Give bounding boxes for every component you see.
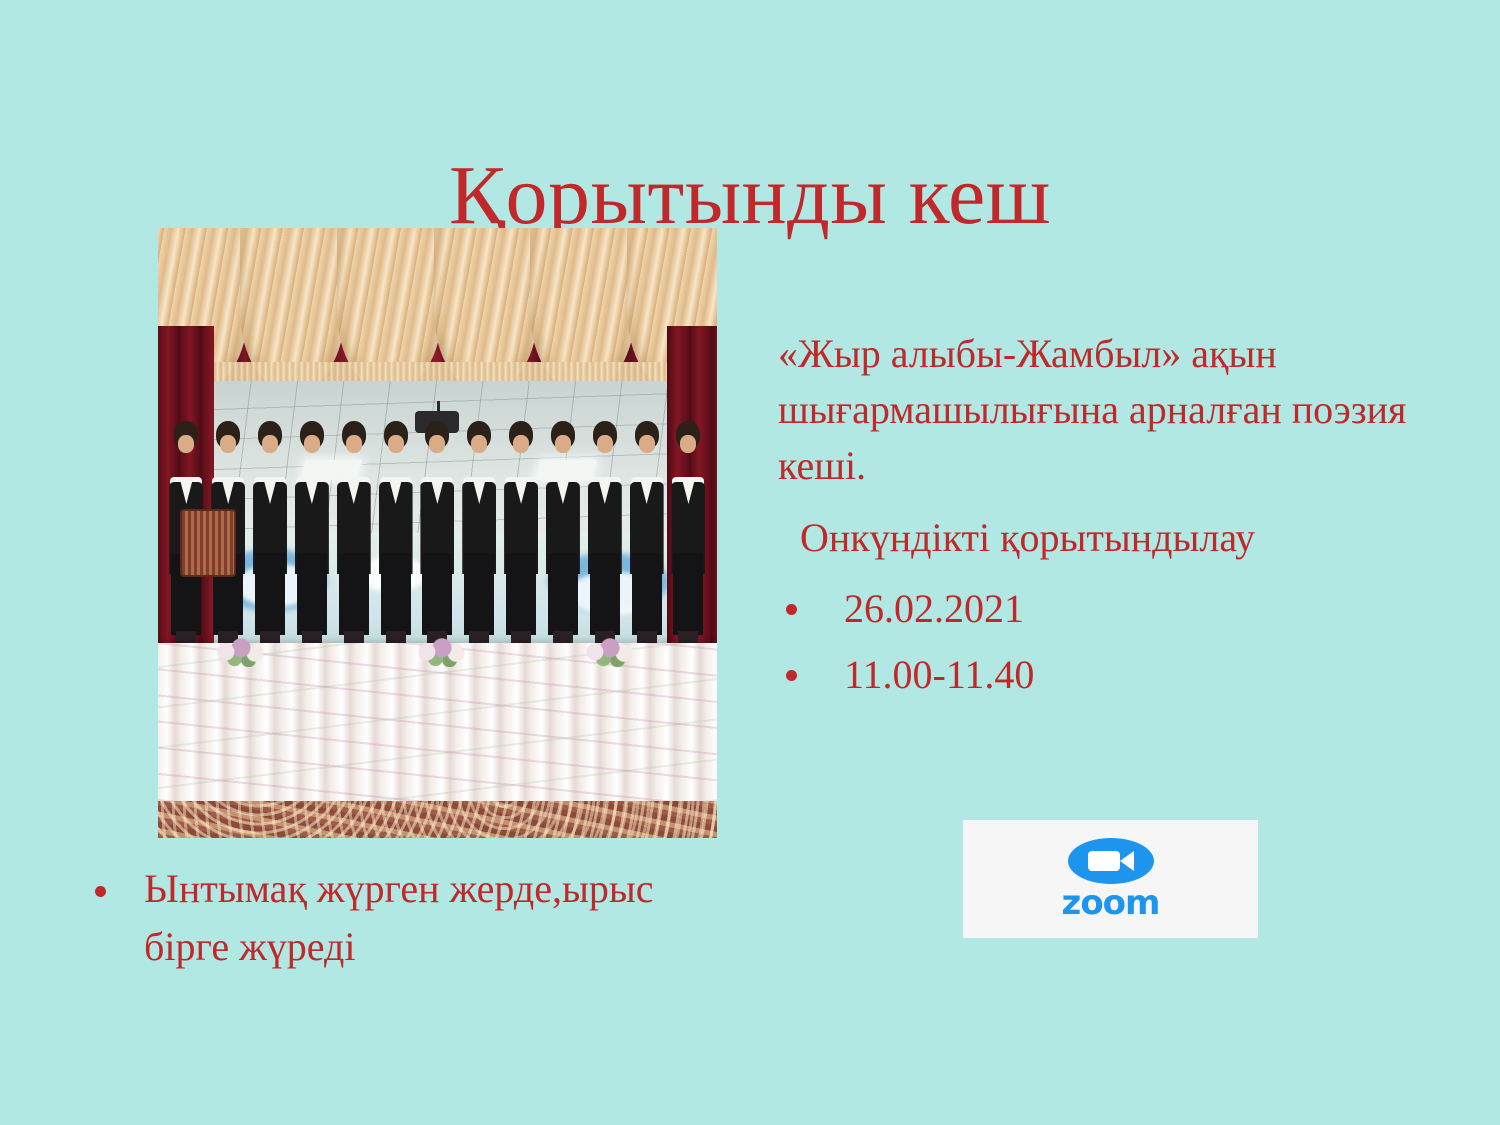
- presentation-slide: Қорытынды кеш: [0, 0, 1500, 1125]
- proverb-text: Ынтымақ жүрген жерде,ырыс бірге жүреді: [86, 860, 726, 976]
- flower-bouquet: [583, 637, 637, 667]
- event-summary-paragraph: Онкүндікті қорытындылау: [778, 510, 1450, 566]
- bullet-dot-icon: [95, 886, 106, 897]
- bullet-dot-icon: [786, 604, 797, 615]
- accordion-icon: [180, 509, 236, 577]
- stage-performance-photo: [158, 228, 717, 838]
- event-date: 26.02.2021: [844, 586, 1024, 631]
- proverb-note: Ынтымақ жүрген жерде,ырыс бірге жүреді: [86, 860, 726, 976]
- bullet-dot-icon: [786, 670, 797, 681]
- flower-bouquet: [415, 637, 469, 667]
- camera-lens-shape: [1120, 851, 1134, 871]
- camera-body-shape: [1088, 851, 1120, 871]
- event-time: 11.00-11.40: [844, 652, 1034, 697]
- zoom-logo-card: zoom: [963, 820, 1258, 938]
- choir-group: [169, 411, 706, 655]
- content-text-block: «Жыр алыбы-Жамбыл» ақын шығармашылығына …: [778, 326, 1450, 708]
- zoom-video-camera-icon: [1068, 838, 1154, 884]
- photo-content: [158, 228, 717, 838]
- flower-bouquet: [214, 637, 268, 667]
- list-item: 26.02.2021: [778, 576, 1450, 642]
- zoom-wordmark: zoom: [1062, 886, 1160, 920]
- event-details-list: 26.02.2021 11.00-11.40: [778, 576, 1450, 708]
- list-item: 11.00-11.40: [778, 642, 1450, 708]
- event-description-paragraph: «Жыр алыбы-Жамбыл» ақын шығармашылығына …: [778, 326, 1450, 494]
